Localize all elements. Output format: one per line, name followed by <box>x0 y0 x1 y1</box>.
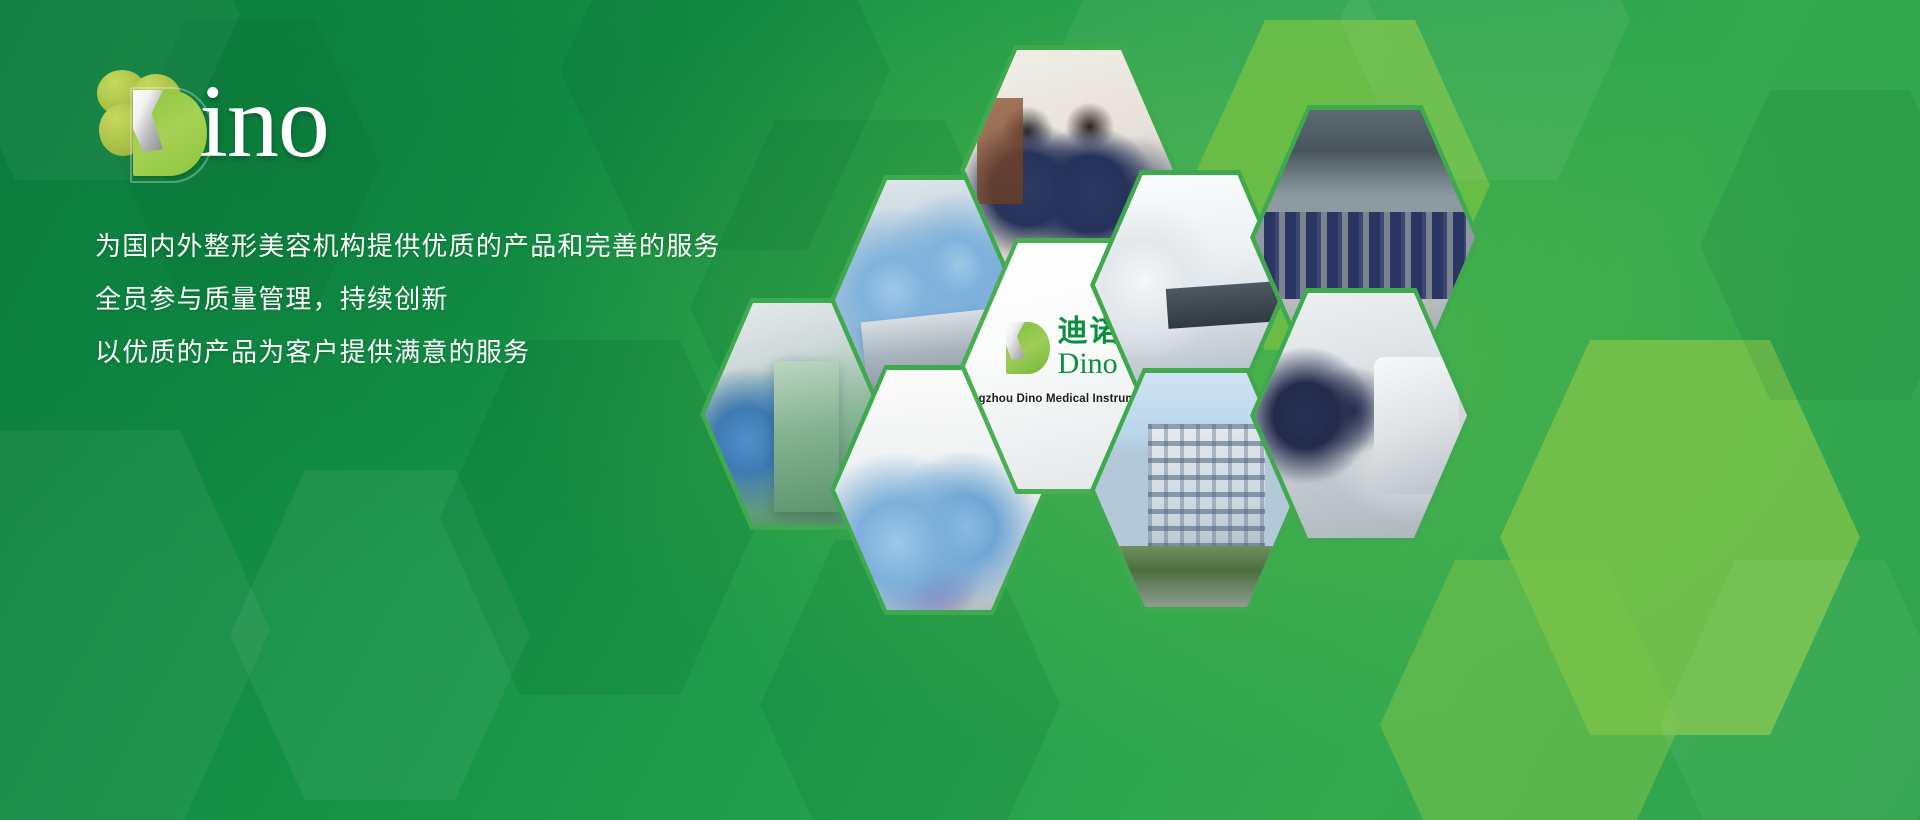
brand-wordmark: ino <box>199 70 329 174</box>
photo-laboratory <box>1095 175 1285 395</box>
dino-leaf-logo-icon <box>1006 322 1050 374</box>
leaf-d-icon <box>1006 322 1050 374</box>
banner-left-panel: ino 为国内外整形美容机构提供优质的产品和完善的服务 全员参与质量管理，持续创… <box>95 60 855 379</box>
slogan-line-2: 全员参与质量管理，持续创新 <box>95 273 855 326</box>
hex-photo-inner <box>1095 175 1285 395</box>
background-hexagon-decor <box>230 470 530 800</box>
slogan-line-1: 为国内外整形美容机构提供优质的产品和完善的服务 <box>95 220 855 273</box>
leaf-d-icon <box>133 90 207 176</box>
slogan-block: 为国内外整形美容机构提供优质的产品和完善的服务 全员参与质量管理，持续创新 以优… <box>95 220 855 379</box>
background-hexagon-decor <box>0 430 270 820</box>
brand-logo: ino <box>95 60 425 178</box>
dino-leaf-logo-icon <box>95 68 207 176</box>
brand-name-en: Dino <box>1058 349 1118 379</box>
hero-banner: ino 为国内外整形美容机构提供优质的产品和完善的服务 全员参与质量管理，持续创… <box>0 0 1920 820</box>
slogan-line-3: 以优质的产品为客户提供满意的服务 <box>95 326 855 379</box>
